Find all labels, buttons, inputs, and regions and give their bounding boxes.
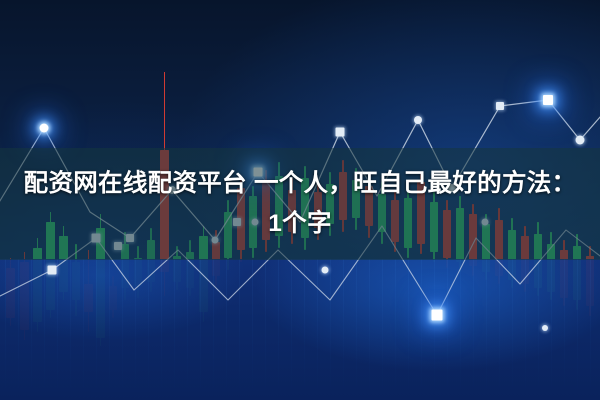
candle-wick — [88, 250, 90, 332]
candle-body — [20, 262, 29, 330]
title-line-1: 配资网在线配资平台 一个人，旺自己最好的方法： — [24, 165, 577, 203]
candle-body — [72, 262, 80, 300]
title-block: 配资网在线配资平台 一个人，旺自己最好的方法： 1个字 — [0, 148, 600, 260]
candlestick — [20, 252, 29, 340]
candle-body — [84, 284, 93, 312]
stock-banner-image: 配资网在线配资平台 一个人，旺自己最好的方法： 1个字 — [0, 0, 600, 400]
candlestick — [84, 250, 93, 332]
candle-wick — [24, 252, 26, 340]
candlestick — [6, 258, 15, 326]
title-line-2: 1个字 — [268, 205, 332, 243]
candle-wick — [10, 258, 12, 326]
candle-body — [134, 258, 142, 286]
candle-body — [6, 268, 15, 318]
candle-body — [586, 256, 594, 306]
